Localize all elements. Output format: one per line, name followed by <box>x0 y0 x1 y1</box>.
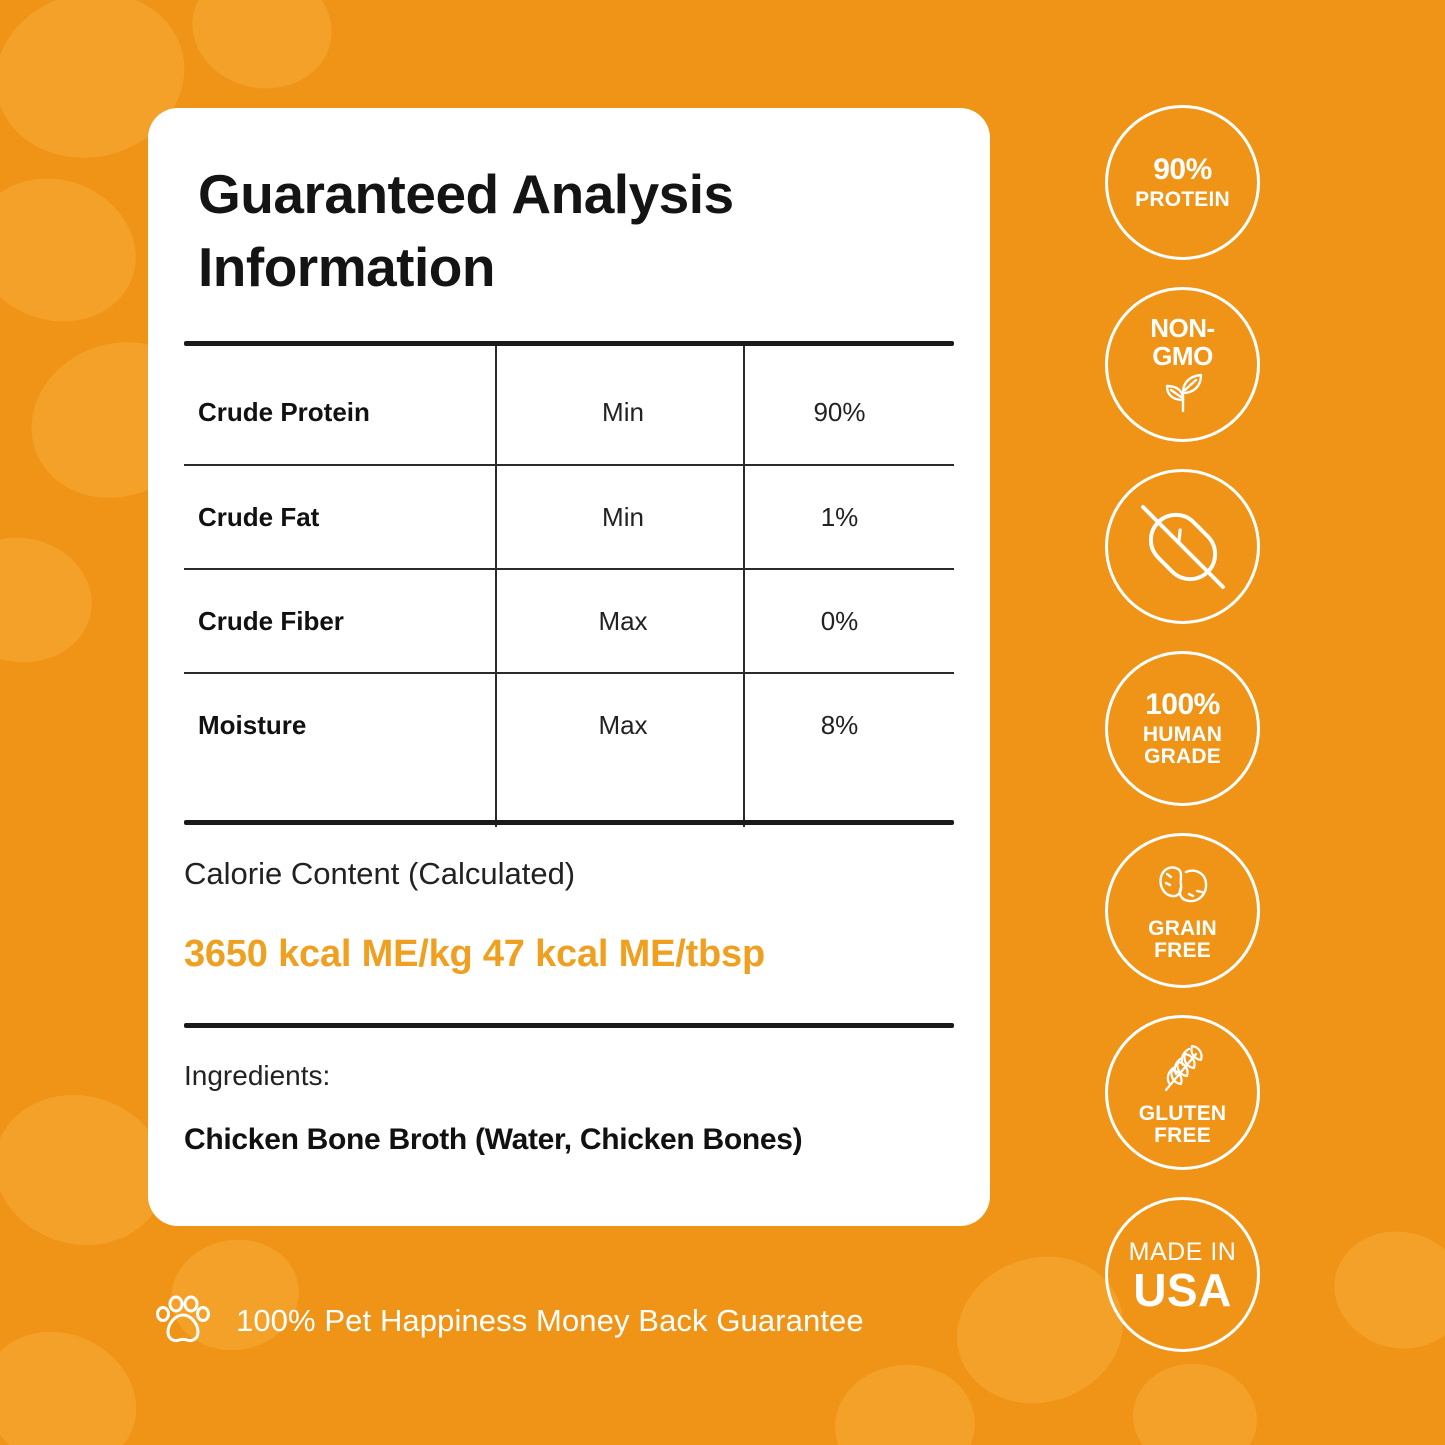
badge-gluten-free-line1: GLUTEN <box>1139 1103 1227 1124</box>
nutrient-name: Crude Fiber <box>184 606 499 637</box>
badge-protein: 90% PROTEIN <box>1105 105 1260 260</box>
nutrient-name: Crude Fat <box>184 502 499 533</box>
badge-non-gmo-line1: NON- <box>1150 315 1214 341</box>
table-row: Crude Fiber Max 0% <box>184 568 954 672</box>
nutrient-basis: Min <box>499 397 747 428</box>
badge-gluten-free: GLUTEN FREE <box>1105 1015 1260 1170</box>
guaranteed-analysis-card: Guaranteed Analysis Information Crude Pr… <box>148 108 990 1226</box>
no-pill-icon <box>1124 488 1242 606</box>
divider-rule-top <box>184 341 954 346</box>
badge-protein-percent: 90% <box>1153 155 1212 185</box>
badge-no-additives <box>1105 469 1260 624</box>
badge-non-gmo: NON- GMO <box>1105 287 1260 442</box>
badge-grain-free-line1: GRAIN <box>1148 918 1217 939</box>
paw-icon <box>155 1295 211 1347</box>
nutrient-basis: Max <box>499 710 747 741</box>
nutrient-name: Moisture <box>184 710 499 741</box>
table-row: Crude Fat Min 1% <box>184 464 954 568</box>
divider-rule-middle <box>184 820 954 825</box>
guarantee-text: 100% Pet Happiness Money Back Guarantee <box>236 1303 864 1339</box>
wheat-icon <box>1156 1042 1210 1094</box>
badge-made-in-usa: MADE IN USA <box>1105 1197 1260 1352</box>
nutrient-basis: Min <box>499 502 747 533</box>
badge-made-in-usa-line2: USA <box>1133 1267 1232 1313</box>
badge-human-grade-percent: 100% <box>1145 690 1220 720</box>
badge-human-grade-line2: GRADE <box>1144 746 1221 767</box>
sprout-icon <box>1158 371 1208 413</box>
money-back-guarantee-bar: 100% Pet Happiness Money Back Guarantee <box>155 1295 864 1347</box>
calorie-content-label: Calorie Content (Calculated) <box>184 856 575 892</box>
page-title: Guaranteed Analysis Information <box>198 158 958 303</box>
certification-badge-column: 90% PROTEIN NON- GMO 100% HUMAN GRADE <box>1105 105 1265 1379</box>
badge-made-in-usa-line1: MADE IN <box>1129 1240 1237 1265</box>
nutrient-name: Crude Protein <box>184 397 499 428</box>
guaranteed-analysis-table: Crude Protein Min 90% Crude Fat Min 1% C… <box>184 360 954 805</box>
calorie-content-value: 3650 kcal ME/kg 47 kcal ME/tbsp <box>184 933 765 976</box>
badge-protein-label: PROTEIN <box>1135 189 1230 210</box>
ingredients-label: Ingredients: <box>184 1060 330 1092</box>
ingredients-value: Chicken Bone Broth (Water, Chicken Bones… <box>184 1123 964 1157</box>
badge-grain-free-line2: FREE <box>1154 940 1211 961</box>
badge-gluten-free-line2: FREE <box>1154 1125 1211 1146</box>
nutrient-value: 8% <box>747 710 954 741</box>
nutrient-value: 90% <box>747 397 954 428</box>
nutrient-value: 0% <box>747 606 954 637</box>
bean-icon <box>1152 863 1214 907</box>
nutrient-basis: Max <box>499 606 747 637</box>
badge-human-grade: 100% HUMAN GRADE <box>1105 651 1260 806</box>
table-row: Crude Protein Min 90% <box>184 360 954 464</box>
table-row: Moisture Max 8% <box>184 672 954 776</box>
nutrient-value: 1% <box>747 502 954 533</box>
badge-grain-free: GRAIN FREE <box>1105 833 1260 988</box>
divider-rule-bottom <box>184 1023 954 1028</box>
badge-human-grade-line1: HUMAN <box>1143 724 1222 745</box>
badge-non-gmo-line2: GMO <box>1152 343 1213 369</box>
